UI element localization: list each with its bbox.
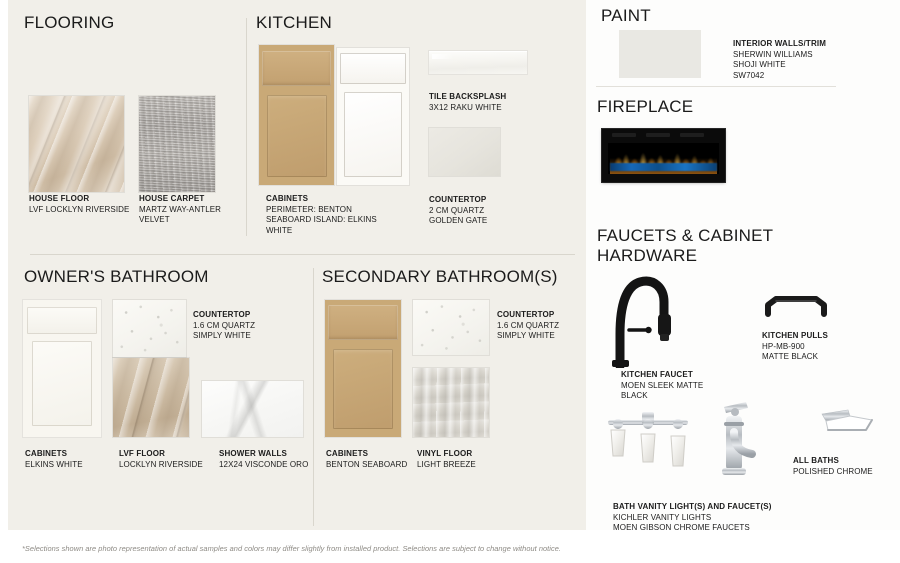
cabinet-center-panel [344, 92, 402, 177]
detail-house-carpet-2: VELVET [139, 215, 244, 226]
caption-kitchen-countertop: COUNTERTOP 2 CM QUARTZ GOLDEN GATE [429, 195, 539, 227]
label-owners-bath-floor: LVF FLOOR [119, 449, 224, 460]
cabinet-drawer-front [262, 51, 331, 86]
detail-bath-vanity-1: KICHLER VANITY LIGHTS [613, 513, 803, 524]
caption-secondary-bath-floor: VINYL FLOOR LIGHT BREEZE [417, 449, 522, 470]
faucets-title-line-2: HARDWARE [597, 246, 773, 266]
detail-interior-paint-3: SW7042 [733, 71, 858, 82]
detail-kitchen-pulls-2: MATTE BLACK [762, 352, 872, 363]
section-title-owners-bathroom: OWNER'S BATHROOM [24, 268, 209, 286]
cabinet-drawer-front [328, 305, 398, 339]
cabinet-pull-icon [765, 296, 827, 318]
swatch-linear-fireplace [602, 129, 725, 182]
swatch-owners-shower-walls [202, 381, 303, 437]
label-kitchen-cabinets: CABINETS [266, 194, 386, 205]
section-title-flooring: FLOORING [24, 14, 114, 32]
swatch-owners-bath-floor [113, 358, 189, 437]
divider-owner-secondary [313, 268, 314, 526]
selections-board: FLOORING HOUSE FLOOR LVF LOCKLYN RIVERSI… [0, 0, 900, 563]
section-title-kitchen: KITCHEN [256, 14, 332, 32]
detail-house-floor-1: LVF LOCKLYN RIVERSIDE [29, 205, 139, 216]
detail-kitchen-countertop-1: 2 CM QUARTZ [429, 206, 539, 217]
disclaimer-text: *Selections shown are photo representati… [22, 544, 561, 553]
swatch-house-floor [29, 96, 124, 192]
caption-house-carpet: HOUSE CARPET MARTZ WAY-ANTLER VELVET [139, 194, 244, 226]
detail-kitchen-faucet-1: MOEN SLEEK MATTE [621, 381, 731, 392]
cabinet-center-panel [267, 95, 327, 176]
bath-faucet-icon [712, 398, 758, 482]
swatch-kitchen-cabinet-island [337, 48, 409, 185]
label-secondary-bath-countertop: COUNTERTOP [497, 310, 597, 321]
swatch-kitchen-countertop [429, 128, 500, 176]
detail-kitchen-cabinets-3: WHITE [266, 226, 386, 237]
caption-secondary-bath-countertop: COUNTERTOP 1.6 CM QUARTZ SIMPLY WHITE [497, 310, 597, 342]
detail-secondary-bath-countertop-2: SIMPLY WHITE [497, 331, 597, 342]
section-title-secondary-bathroom: SECONDARY BATHROOM(S) [322, 268, 558, 286]
detail-kitchen-pulls-1: HP-MB-900 [762, 342, 872, 353]
label-owners-bath-countertop: COUNTERTOP [193, 310, 293, 321]
detail-interior-paint-2: SHOJI WHITE [733, 60, 858, 71]
fireplace-ember-bed [610, 163, 717, 171]
caption-all-baths: ALL BATHS POLISHED CHROME [793, 456, 900, 477]
swatch-house-carpet [139, 96, 215, 192]
section-title-faucets-hardware: FAUCETS & CABINET HARDWARE [597, 226, 773, 266]
vanity-light-icon [602, 404, 694, 480]
label-kitchen-countertop: COUNTERTOP [429, 195, 539, 206]
section-title-paint: PAINT [601, 7, 651, 25]
section-title-fireplace: FIREPLACE [597, 98, 693, 116]
fireplace-vent [646, 133, 670, 137]
detail-house-carpet-1: MARTZ WAY-ANTLER [139, 205, 244, 216]
label-house-floor: HOUSE FLOOR [29, 194, 139, 205]
label-secondary-bath-floor: VINYL FLOOR [417, 449, 522, 460]
fireplace-vent [612, 133, 636, 137]
caption-tile-backsplash: TILE BACKSPLASH 3X12 RAKU WHITE [429, 92, 539, 113]
pulldown-faucet-icon [606, 272, 678, 368]
detail-interior-paint-1: SHERWIN WILLIAMS [733, 50, 858, 61]
faucets-title-line-1: FAUCETS & CABINET [597, 226, 773, 246]
caption-bath-vanity-light-faucet: BATH VANITY LIGHT(S) AND FAUCET(S) KICHL… [613, 502, 803, 534]
label-all-baths: ALL BATHS [793, 456, 900, 467]
divider-upper-lower [30, 254, 575, 255]
detail-owners-bath-countertop-2: SIMPLY WHITE [193, 331, 293, 342]
detail-owners-bath-floor-1: LOCKLYN RIVERSIDE [119, 460, 224, 471]
detail-owners-bath-cabinets-1: ELKINS WHITE [25, 460, 125, 471]
swatch-secondary-bath-cabinet [325, 300, 401, 437]
label-interior-paint: INTERIOR WALLS/TRIM [733, 39, 858, 50]
detail-secondary-bath-countertop-1: 1.6 CM QUARTZ [497, 321, 597, 332]
fireplace-vent [680, 133, 704, 137]
caption-owners-bath-cabinets: CABINETS ELKINS WHITE [25, 449, 125, 470]
fireplace-firebox [608, 143, 719, 174]
caption-house-floor: HOUSE FLOOR LVF LOCKLYN RIVERSIDE [29, 194, 139, 215]
label-bath-vanity-light-faucet: BATH VANITY LIGHT(S) AND FAUCET(S) [613, 502, 803, 513]
detail-owners-bath-countertop-1: 1.6 CM QUARTZ [193, 321, 293, 332]
caption-kitchen-pulls: KITCHEN PULLS HP-MB-900 MATTE BLACK [762, 331, 872, 363]
divider-flooring-kitchen [246, 18, 247, 236]
swatch-secondary-bath-countertop [413, 300, 489, 355]
detail-kitchen-cabinets-1: PERIMETER: BENTON [266, 205, 386, 216]
label-kitchen-pulls: KITCHEN PULLS [762, 331, 872, 342]
detail-bath-vanity-2: MOEN GIBSON CHROME FAUCETS [613, 523, 803, 534]
caption-kitchen-faucet: KITCHEN FAUCET MOEN SLEEK MATTE BLACK [621, 370, 731, 402]
detail-all-baths-1: POLISHED CHROME [793, 467, 900, 478]
caption-kitchen-cabinets: CABINETS PERIMETER: BENTON SEABOARD ISLA… [266, 194, 386, 236]
label-tile-backsplash: TILE BACKSPLASH [429, 92, 539, 103]
detail-secondary-bath-floor-1: LIGHT BREEZE [417, 460, 522, 471]
detail-kitchen-countertop-2: GOLDEN GATE [429, 216, 539, 227]
label-house-carpet: HOUSE CARPET [139, 194, 244, 205]
label-kitchen-faucet: KITCHEN FAUCET [621, 370, 731, 381]
caption-owners-bath-countertop: COUNTERTOP 1.6 CM QUARTZ SIMPLY WHITE [193, 310, 293, 342]
swatch-tile-backsplash [429, 51, 527, 74]
caption-interior-paint: INTERIOR WALLS/TRIM SHERWIN WILLIAMS SHO… [733, 39, 858, 81]
swatch-secondary-bath-floor [413, 368, 489, 437]
cabinet-drawer-front [27, 307, 97, 334]
cabinet-center-panel [333, 349, 394, 428]
detail-tile-backsplash-1: 3X12 RAKU WHITE [429, 103, 539, 114]
swatch-owners-bath-cabinet [23, 300, 101, 437]
label-owners-bath-cabinets: CABINETS [25, 449, 125, 460]
swatch-owners-bath-countertop [113, 300, 186, 357]
swatch-interior-paint [619, 30, 701, 78]
cabinet-center-panel [32, 341, 91, 426]
cabinet-drawer-front [340, 53, 406, 83]
caption-owners-bath-floor: LVF FLOOR LOCKLYN RIVERSIDE [119, 449, 224, 470]
swatch-kitchen-cabinet-perimeter [259, 45, 334, 185]
divider-paint-fireplace [596, 86, 836, 87]
towel-bar-icon [816, 408, 878, 442]
detail-kitchen-cabinets-2: SEABOARD ISLAND: ELKINS [266, 215, 386, 226]
